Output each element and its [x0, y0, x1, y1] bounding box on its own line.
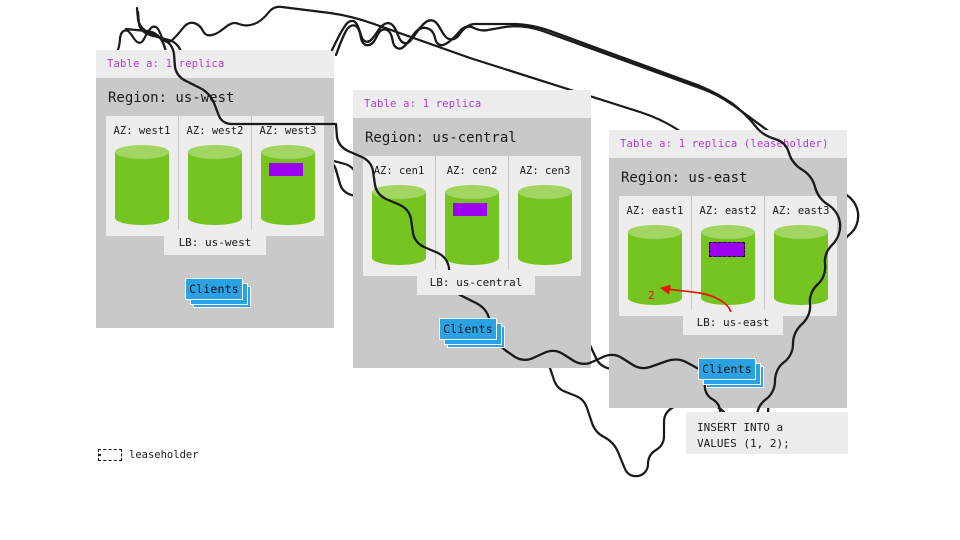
- legend: leaseholder: [98, 449, 199, 461]
- leaseholder-marker-east2: [709, 242, 745, 257]
- load-balancer-us-east[interactable]: LB: us-east: [683, 310, 783, 335]
- clients-button-us-east[interactable]: Clients: [698, 358, 756, 380]
- clients-label: Clients: [443, 322, 493, 336]
- diagram-canvas: Table a: 1 replica Region: us-west AZ: w…: [0, 0, 960, 540]
- dashed-rectangle-icon: [98, 449, 122, 461]
- load-balancer-us-west[interactable]: LB: us-west: [164, 230, 266, 255]
- lb-label: LB: us-east: [697, 316, 770, 329]
- lb-label: LB: us-west: [179, 236, 252, 249]
- clients-button-us-central[interactable]: Clients: [439, 318, 497, 340]
- clients-stack-us-west[interactable]: Clients: [185, 278, 251, 308]
- clients-stack-us-central[interactable]: Clients: [439, 318, 505, 348]
- lb-label: LB: us-central: [430, 276, 523, 289]
- clients-stack-us-east[interactable]: Clients: [698, 358, 764, 388]
- leaseholder-marker-west3: [269, 163, 303, 176]
- sql-statement-box: INSERT INTO a VALUES (1, 2);: [686, 412, 848, 454]
- legend-label: leaseholder: [129, 449, 199, 461]
- load-balancer-us-central[interactable]: LB: us-central: [417, 270, 535, 295]
- leaseholder-marker-cen2: [453, 203, 487, 216]
- step-2-label: 2: [648, 290, 655, 302]
- clients-label: Clients: [189, 282, 239, 296]
- clients-label: Clients: [702, 362, 752, 376]
- clients-button-us-west[interactable]: Clients: [185, 278, 243, 300]
